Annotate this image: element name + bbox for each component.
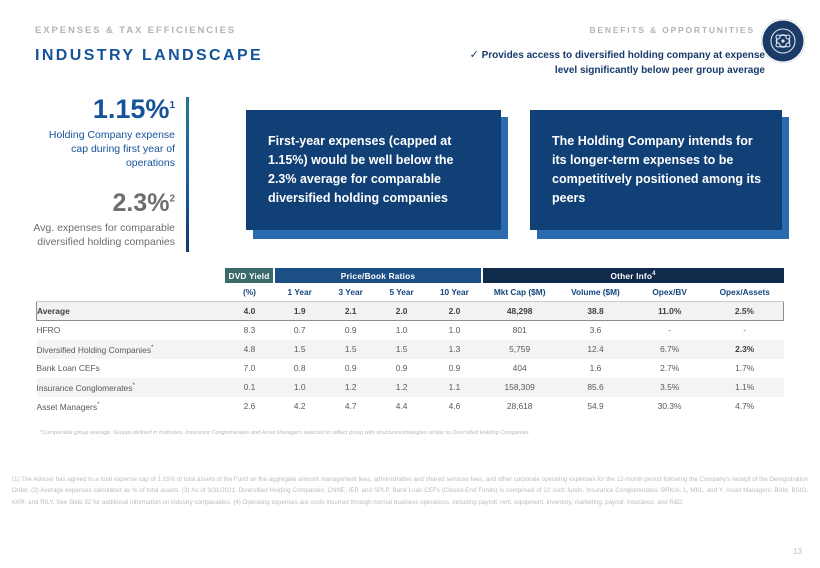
table-cell: 7.0 (225, 359, 274, 378)
col-header-volume: Volume ($M) (558, 283, 634, 302)
table-cell: 4.4 (376, 397, 427, 416)
group-header-price-book: Price/Book Ratios (274, 268, 481, 283)
table-cell: 1.0 (274, 378, 325, 397)
benefits-bullet: ✓ Provides access to diversified holding… (465, 48, 765, 78)
table-cell: 404 (482, 359, 558, 378)
table-cell: 158,309 (482, 378, 558, 397)
company-logo-icon (761, 19, 805, 63)
stat-item-expense-cap: 1.15%1 Holding Company expense cap durin… (30, 96, 175, 171)
table-cell: 1.5 (274, 340, 325, 359)
table-row: Average4.01.92.12.02.048,29838.811.0%2.5… (37, 302, 784, 321)
table-cell: 4.7 (325, 397, 376, 416)
row-footnote-marker: * (97, 401, 100, 408)
col-header-10-year: 10 Year (427, 283, 482, 302)
group-header-other-info: Other Info4 (482, 268, 784, 283)
table-cell: 3.6 (558, 321, 634, 340)
benefits-bullet-text: Provides access to diversified holding c… (482, 50, 765, 76)
table-cell: 1.0 (427, 321, 482, 340)
table-cell: 1.9 (274, 302, 325, 321)
stat-value: 1.15%1 (30, 96, 175, 123)
col-header-mkt-cap: Mkt Cap ($M) (482, 283, 558, 302)
callout-text: First-year expenses (capped at 1.15%) wo… (246, 110, 501, 230)
col-header-name (37, 283, 225, 302)
table-cell: 2.6 (225, 397, 274, 416)
table-cell: 1.6 (558, 359, 634, 378)
table-cell: 2.7% (633, 359, 706, 378)
table-cell: 38.8 (558, 302, 634, 321)
stat-value: 2.3%2 (30, 191, 175, 216)
table-cell: 2.0 (427, 302, 482, 321)
row-label: Bank Loan CEFs (37, 359, 225, 378)
table-footnote: *Comparable group average. Groups define… (40, 430, 740, 438)
table-body: Average4.01.92.12.02.048,29838.811.0%2.5… (37, 302, 784, 416)
table-cell: 801 (482, 321, 558, 340)
table-cell: 4.0 (225, 302, 274, 321)
table-cell: 0.7 (274, 321, 325, 340)
stat-footnote-marker: 1 (169, 100, 175, 111)
table-cell: 54.9 (558, 397, 634, 416)
table-cell: 2.3% (706, 340, 784, 359)
col-header-pct: (%) (225, 283, 274, 302)
industry-comparables-table: DVD Yield Price/Book Ratios Other Info4 … (36, 268, 784, 416)
col-header-1-year: 1 Year (274, 283, 325, 302)
table-cell: 0.9 (325, 321, 376, 340)
table-row: Asset Managers*2.64.24.74.44.628,61854.9… (37, 397, 784, 416)
table-cell: 1.5 (376, 340, 427, 359)
table-cell: 1.5 (325, 340, 376, 359)
table-cell: 2.5% (706, 302, 784, 321)
table-cell: - (706, 321, 784, 340)
stat-description: Avg. expenses for comparable diversified… (30, 221, 175, 249)
stat-description: Holding Company expense cap during first… (30, 128, 175, 171)
table-cell: 1.3 (427, 340, 482, 359)
row-label: HFRO (37, 321, 225, 340)
page-title: INDUSTRY LANDSCAPE (35, 47, 263, 65)
table-group-header-row: DVD Yield Price/Book Ratios Other Info4 (37, 268, 784, 283)
table-row: Bank Loan CEFs7.00.80.90.90.94041.62.7%1… (37, 359, 784, 378)
table-cell: 1.2 (325, 378, 376, 397)
table-cell: 4.7% (706, 397, 784, 416)
table-cell: 1.2 (376, 378, 427, 397)
table-row: Diversified Holding Companies*4.81.51.51… (37, 340, 784, 359)
col-header-opex-assets: Opex/Assets (706, 283, 784, 302)
row-footnote-marker: * (132, 382, 135, 389)
stat-item-avg-expenses: 2.3%2 Avg. expenses for comparable diver… (30, 191, 175, 249)
group-header-dvd-yield: DVD Yield (225, 268, 274, 283)
table-cell: - (633, 321, 706, 340)
table-cell: 0.9 (325, 359, 376, 378)
page-number: 13 (793, 547, 802, 556)
table-column-header-row: (%) 1 Year 3 Year 5 Year 10 Year Mkt Cap… (37, 283, 784, 302)
table-cell: 0.8 (274, 359, 325, 378)
table-cell: 11.0% (633, 302, 706, 321)
disclaimer-text: (1) The Adviser has agreed to a total ex… (12, 474, 808, 508)
row-footnote-marker: * (151, 344, 154, 351)
table-cell: 0.9 (376, 359, 427, 378)
check-icon: ✓ (470, 49, 479, 61)
table-cell: 0.9 (427, 359, 482, 378)
table-cell: 3.5% (633, 378, 706, 397)
table-cell: 28,618 (482, 397, 558, 416)
table-row: HFRO8.30.70.91.01.08013.6-- (37, 321, 784, 340)
table-cell: 5,759 (482, 340, 558, 359)
table-cell: 85.6 (558, 378, 634, 397)
table-cell: 4.8 (225, 340, 274, 359)
table-cell: 4.2 (274, 397, 325, 416)
callout-text: The Holding Company intends for its long… (530, 110, 782, 230)
table-cell: 2.0 (376, 302, 427, 321)
row-label: Average (37, 302, 225, 321)
section-eyebrow: EXPENSES & TAX EFFICIENCIES (35, 25, 236, 36)
slide-canvas: EXPENSES & TAX EFFICIENCIES INDUSTRY LAN… (0, 0, 820, 568)
table-cell: 2.1 (325, 302, 376, 321)
row-label: Insurance Conglomerates* (37, 378, 225, 397)
table-cell: 12.4 (558, 340, 634, 359)
col-header-opex-bv: Opex/BV (633, 283, 706, 302)
col-header-3-year: 3 Year (325, 283, 376, 302)
callout-box-longer-term: The Holding Company intends for its long… (530, 110, 782, 232)
col-header-5-year: 5 Year (376, 283, 427, 302)
benefits-eyebrow: BENEFITS & OPPORTUNITIES (589, 25, 755, 35)
table-cell: 0.1 (225, 378, 274, 397)
row-label: Diversified Holding Companies* (37, 340, 225, 359)
table-cell: 4.6 (427, 397, 482, 416)
callout-box-first-year: First-year expenses (capped at 1.15%) wo… (246, 110, 501, 232)
table-cell: 48,298 (482, 302, 558, 321)
table-cell: 6.7% (633, 340, 706, 359)
stats-block: 1.15%1 Holding Company expense cap durin… (30, 96, 175, 249)
table-row: Insurance Conglomerates*0.11.01.21.21.11… (37, 378, 784, 397)
table-cell: 1.1% (706, 378, 784, 397)
stat-footnote-marker: 2 (169, 193, 175, 204)
table-cell: 1.0 (376, 321, 427, 340)
emblem-glyph (770, 28, 796, 54)
table-cell: 30.3% (633, 397, 706, 416)
table-cell: 1.1 (427, 378, 482, 397)
table-cell: 1.7% (706, 359, 784, 378)
group-header-spacer (37, 268, 225, 283)
row-label: Asset Managers* (37, 397, 225, 416)
vertical-accent-divider (186, 97, 189, 252)
table-cell: 8.3 (225, 321, 274, 340)
